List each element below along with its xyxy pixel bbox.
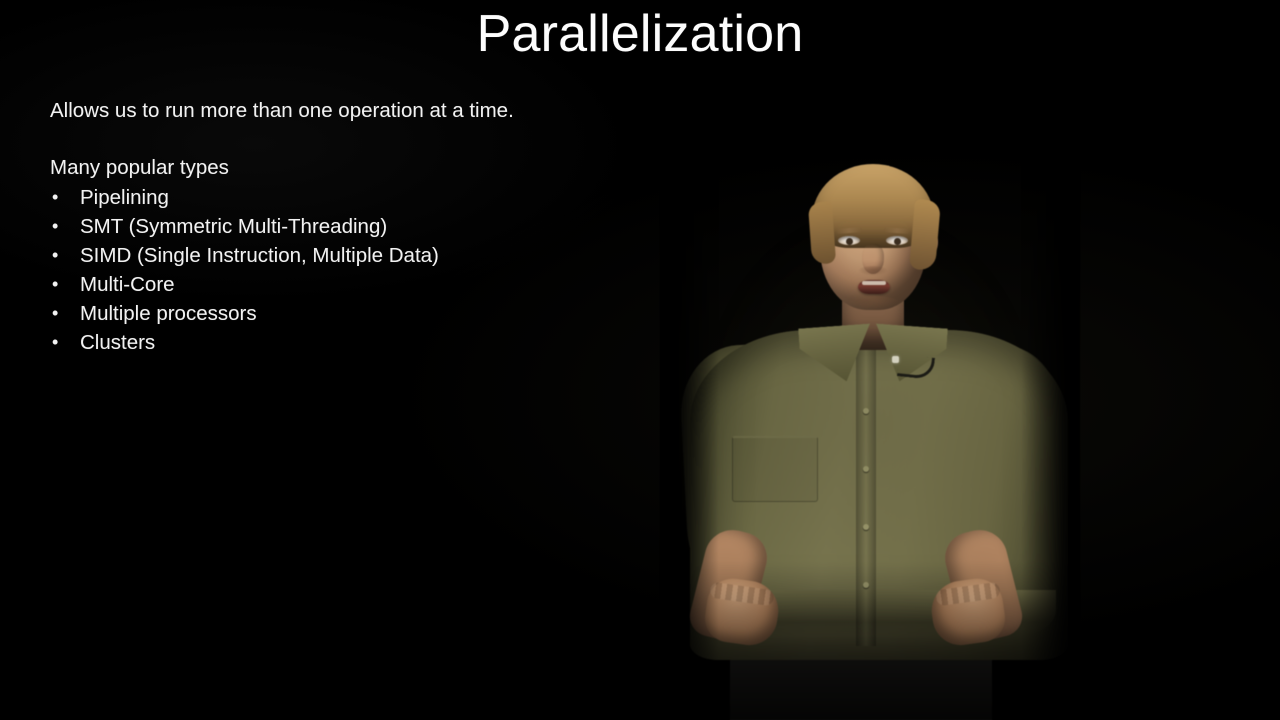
bullet-icon: • — [52, 183, 58, 212]
presenter-teeth — [862, 281, 886, 285]
bullet-icon: • — [52, 299, 58, 328]
list-item-label: Multi-Core — [80, 273, 175, 296]
list-item-label: SMT (Symmetric Multi-Threading) — [80, 215, 387, 238]
list-item: • Multi-Core — [50, 270, 610, 299]
bullet-icon: • — [52, 270, 58, 299]
presenter-hair-side-right — [909, 199, 941, 271]
presenter-video — [660, 150, 1080, 720]
shirt-button — [863, 582, 869, 588]
shirt-button — [863, 466, 869, 472]
shirt-button — [863, 524, 869, 530]
bullet-icon: • — [52, 212, 58, 241]
shirt-button — [863, 408, 869, 414]
bullet-list: • Pipelining • SMT (Symmetric Multi-Thre… — [50, 183, 610, 357]
presenter-hairline — [826, 186, 920, 208]
list-item-label: SIMD (Single Instruction, Multiple Data) — [80, 244, 439, 267]
presenter-shirt-placket — [856, 346, 876, 646]
paragraph-spacer — [50, 125, 610, 153]
presenter-pupil-left — [846, 238, 853, 245]
intro-paragraph: Allows us to run more than one operation… — [50, 96, 610, 125]
presenter-nose-shadow — [858, 266, 888, 276]
list-item-label: Multiple processors — [80, 302, 257, 325]
list-item: • SIMD (Single Instruction, Multiple Dat… — [50, 241, 610, 270]
presenter-pupil-right — [894, 238, 901, 245]
list-item: • Pipelining — [50, 183, 610, 212]
bullet-icon: • — [52, 241, 58, 270]
list-item: • SMT (Symmetric Multi-Threading) — [50, 212, 610, 241]
list-item: • Multiple processors — [50, 299, 610, 328]
page-title: Parallelization — [0, 6, 1280, 62]
lecture-slide: Parallelization Allows us to run more th… — [0, 0, 1280, 720]
bullet-icon: • — [52, 328, 58, 357]
list-item: • Clusters — [50, 328, 610, 357]
presenter-hair-side-left — [808, 201, 836, 265]
presenter-shirt-pocket — [732, 436, 818, 502]
list-heading: Many popular types — [50, 153, 610, 182]
lapel-microphone-icon — [892, 356, 899, 363]
slide-body: Allows us to run more than one operation… — [50, 96, 610, 357]
list-item-label: Pipelining — [80, 186, 169, 209]
list-item-label: Clusters — [80, 331, 155, 354]
presenter-chin-shadow — [848, 296, 900, 310]
